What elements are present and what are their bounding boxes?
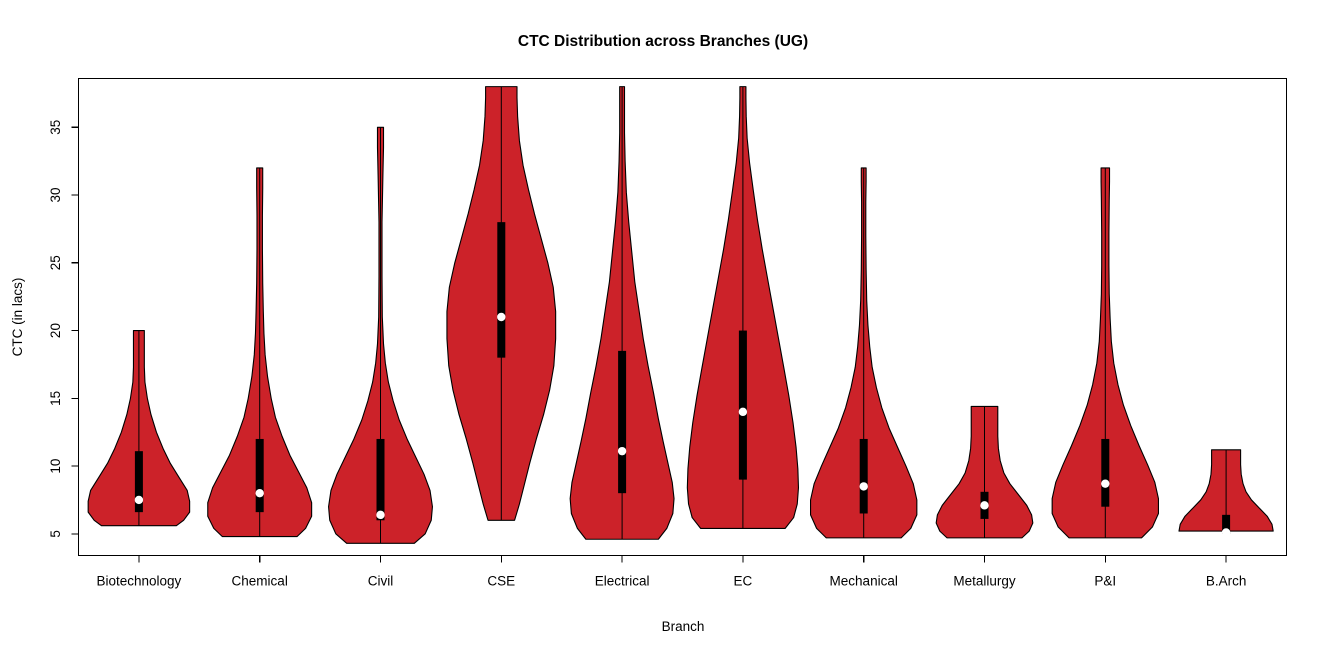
x-axis-tick-label-metallurgy: Metallurgy: [953, 574, 1016, 589]
violin-iqr-box: [497, 222, 505, 358]
violin-iqr-box: [860, 439, 868, 514]
y-axis-title: CTC (in lacs): [10, 278, 25, 357]
y-axis-tick-label: 30: [48, 188, 63, 203]
x-axis-tick-label-b-arch: B.Arch: [1206, 574, 1247, 589]
y-axis-tick-label: 20: [48, 323, 63, 338]
x-axis-title: Branch: [662, 619, 705, 634]
page-title: CTC Distribution across Branches (UG): [518, 33, 808, 50]
violin-median-dot: [1101, 479, 1109, 487]
violin-median-dot: [1222, 528, 1230, 536]
violin-chart-root: CTC Distribution across Branches (UG) CT…: [0, 0, 1327, 653]
violin-iqr-box: [618, 351, 626, 493]
violin-median-dot: [860, 482, 868, 490]
violin-iqr-box: [377, 439, 385, 520]
violin-median-dot: [497, 313, 505, 321]
x-axis-tick-label-cse: CSE: [487, 574, 515, 589]
violin-median-dot: [256, 489, 264, 497]
y-axis-tick-label: 10: [48, 459, 63, 474]
y-axis-tick-label: 35: [48, 120, 63, 135]
y-axis-tick-label: 25: [48, 255, 63, 270]
x-axis-tick-label-ec: EC: [734, 574, 753, 589]
x-axis-tick-label-p-i: P&I: [1094, 574, 1116, 589]
x-axis-tick-label-electrical: Electrical: [595, 574, 650, 589]
violin-median-dot: [135, 496, 143, 504]
x-axis-tick-label-mechanical: Mechanical: [830, 574, 898, 589]
x-axis-tick-label-biotechnology: Biotechnology: [96, 574, 181, 589]
y-axis-tick-label: 5: [48, 530, 63, 538]
violin-median-dot: [618, 447, 626, 455]
x-axis-tick-label-civil: Civil: [368, 574, 394, 589]
violin-iqr-box: [1101, 439, 1109, 507]
violin-iqr-box: [739, 331, 747, 480]
violin-median-dot: [376, 511, 384, 519]
x-axis-tick-label-chemical: Chemical: [232, 574, 288, 589]
violin-median-dot: [980, 501, 988, 509]
violin-iqr-box: [256, 439, 264, 512]
violin-plot-svg: CTC Distribution across Branches (UG) CT…: [0, 0, 1327, 653]
y-axis-tick-label: 15: [48, 391, 63, 406]
violin-median-dot: [739, 408, 747, 416]
